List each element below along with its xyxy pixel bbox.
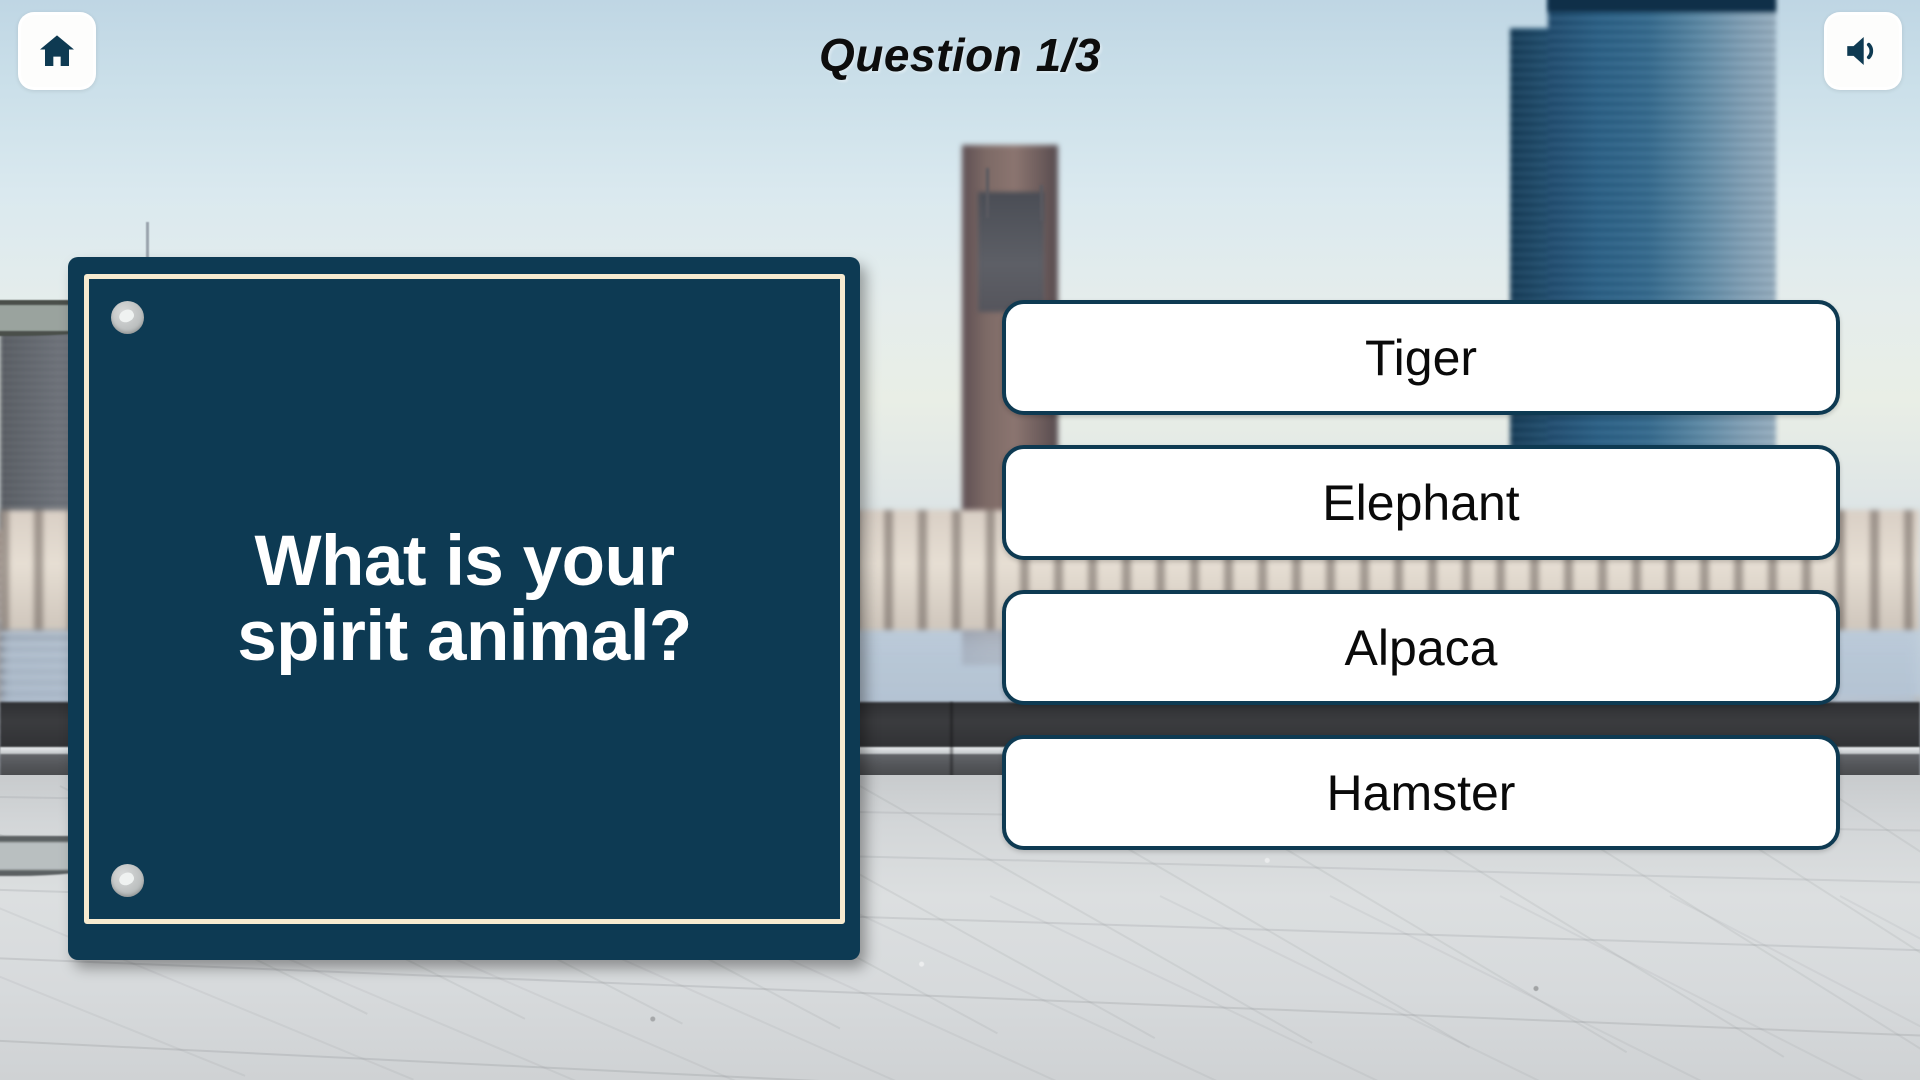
background-skyscraper-roof bbox=[1548, 0, 1776, 12]
answer-option-label: Tiger bbox=[1365, 329, 1477, 387]
question-card-inner-border: What is your spirit animal? bbox=[84, 274, 845, 924]
answer-option-4[interactable]: Hamster bbox=[1002, 735, 1840, 850]
answer-option-label: Hamster bbox=[1327, 764, 1516, 822]
rooftop-parapet-seam bbox=[950, 702, 953, 780]
screw-icon bbox=[111, 864, 144, 897]
screw-icon bbox=[111, 301, 144, 334]
answer-options-list: TigerElephantAlpacaHamster bbox=[1002, 300, 1840, 850]
question-text: What is your spirit animal? bbox=[145, 524, 784, 675]
answer-option-1[interactable]: Tiger bbox=[1002, 300, 1840, 415]
page-title: Question 1/3 bbox=[0, 28, 1920, 82]
answer-option-3[interactable]: Alpaca bbox=[1002, 590, 1840, 705]
background-pole bbox=[146, 222, 149, 262]
answer-option-2[interactable]: Elephant bbox=[1002, 445, 1840, 560]
quiz-screen: Question 1/3 What is your spirit animal?… bbox=[0, 0, 1920, 1080]
background-antenna bbox=[1040, 185, 1043, 221]
answer-option-label: Elephant bbox=[1322, 474, 1519, 532]
question-line-2: spirit animal? bbox=[145, 599, 784, 674]
question-card: What is your spirit animal? bbox=[68, 257, 860, 960]
answer-option-label: Alpaca bbox=[1345, 619, 1498, 677]
background-antenna bbox=[986, 168, 989, 218]
question-line-1: What is your bbox=[145, 524, 784, 599]
